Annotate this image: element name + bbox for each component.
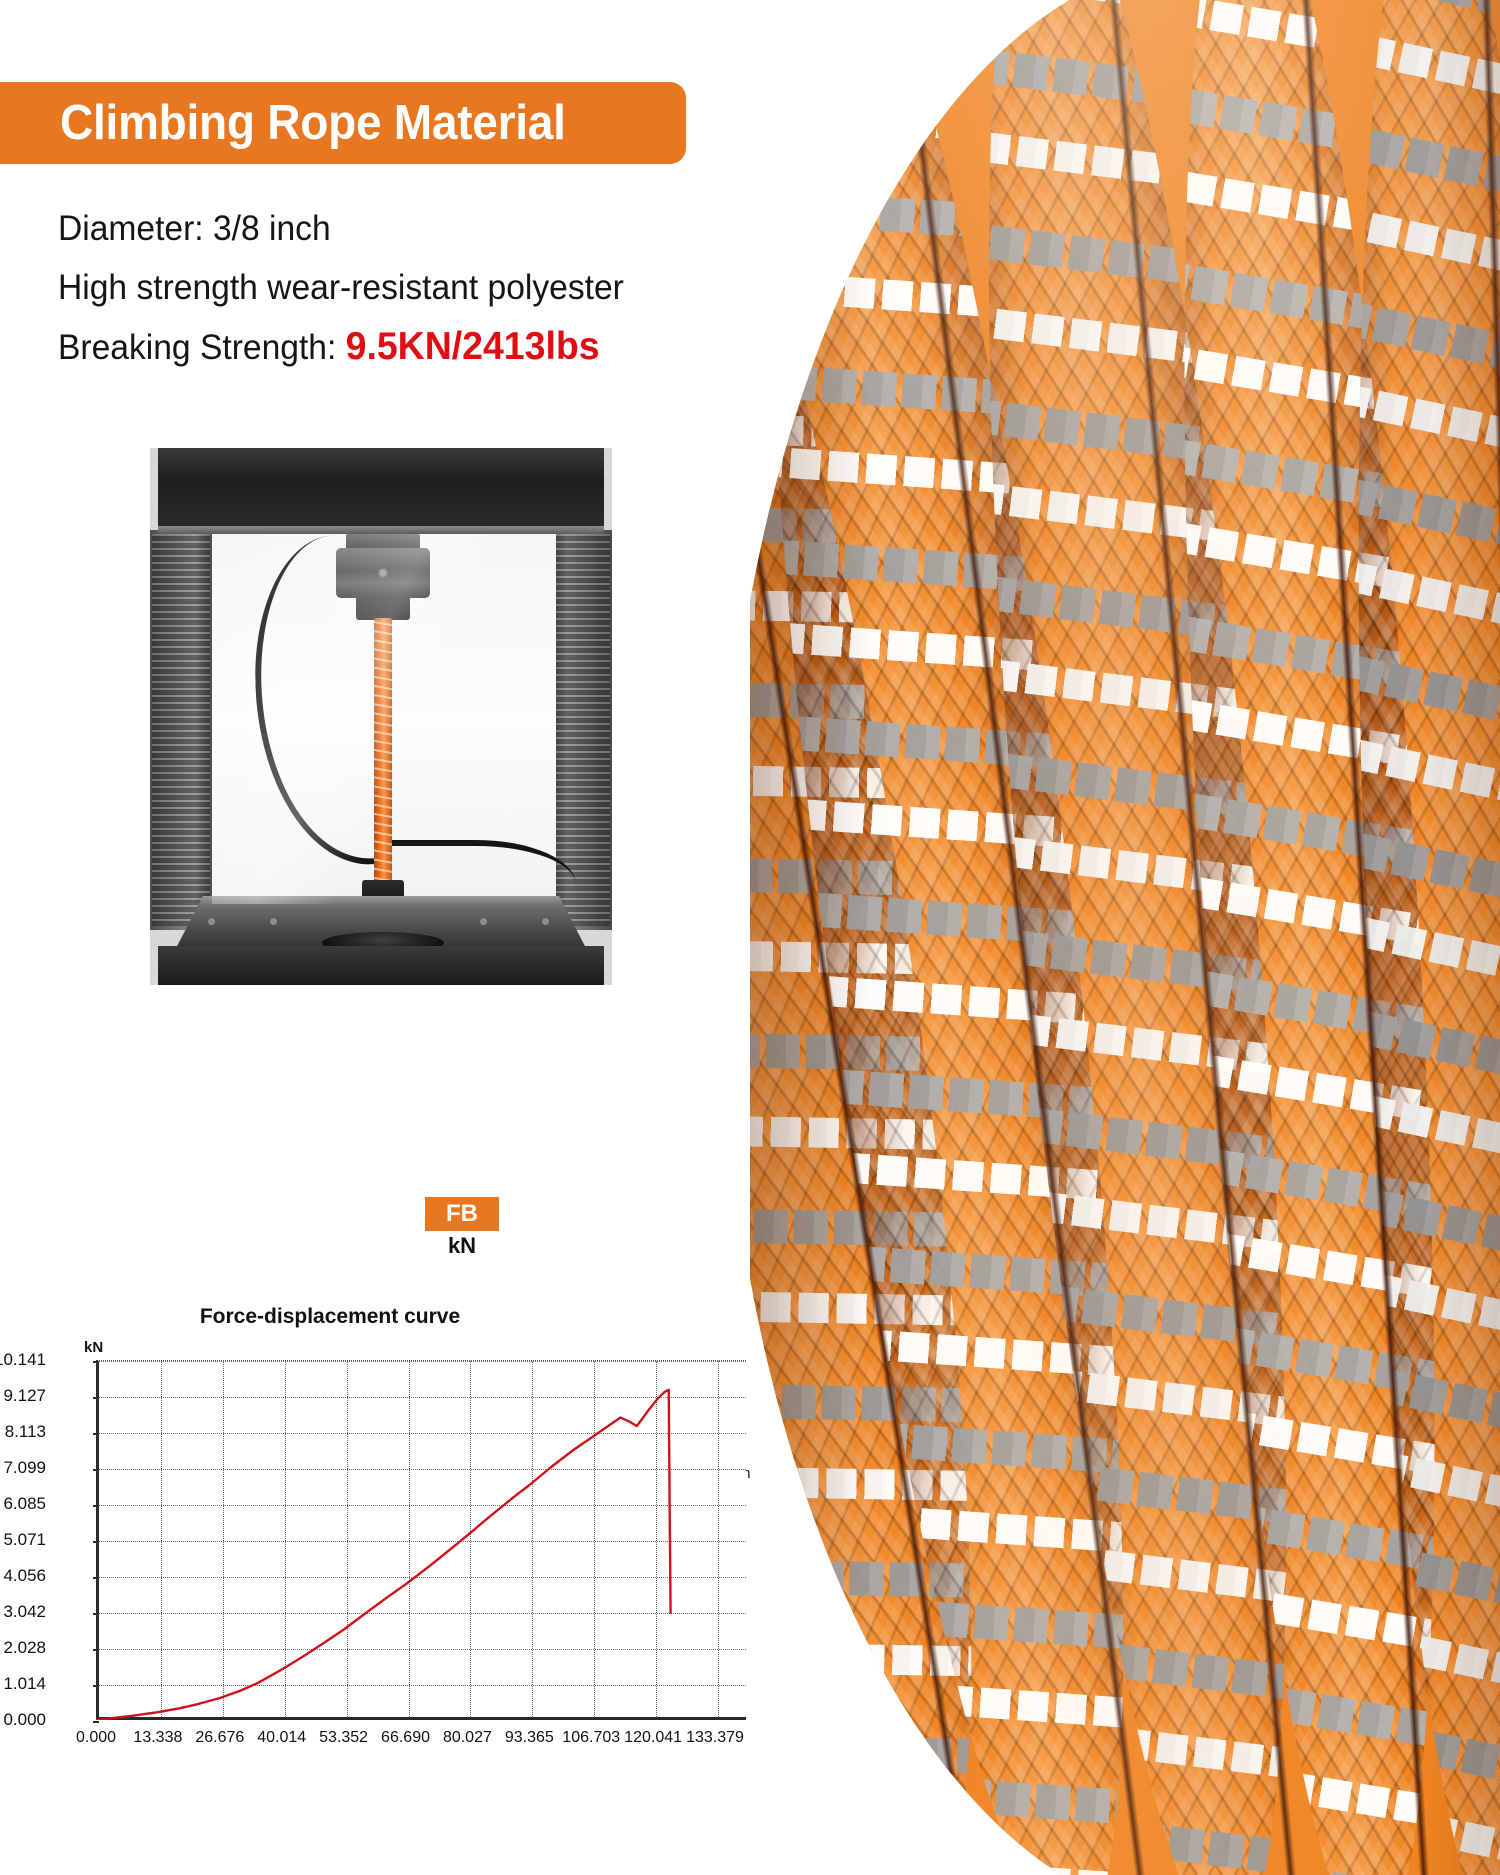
rope-specimen xyxy=(374,618,392,888)
chart-x-tick-label: 66.690 xyxy=(381,1729,430,1747)
chart-y-tick-label: 10.141 xyxy=(0,1350,46,1370)
machine-crosshead xyxy=(158,448,604,530)
chart-y-axis-unit: kN xyxy=(84,1339,103,1356)
crosshead-edge xyxy=(158,526,604,534)
page-title: Climbing Rope Material xyxy=(60,95,566,151)
chart-y-tick-mark xyxy=(93,1721,99,1723)
force-break-badge: FB xyxy=(425,1197,499,1231)
chart-y-tick-label: 5.071 xyxy=(3,1530,46,1550)
chart-x-tick-label: 93.365 xyxy=(505,1729,554,1747)
rope-photo-mask xyxy=(750,0,1500,1875)
bed-bolt-icon xyxy=(208,918,215,925)
chart-x-tick-label: 53.352 xyxy=(319,1729,368,1747)
rope-closeup-photo xyxy=(750,0,1500,1875)
force-displacement-chart: Force-displacement curve kN mm 0.00013.3… xyxy=(0,1305,800,1835)
chart-x-tick-label: 80.027 xyxy=(443,1729,492,1747)
chart-y-tick-label: 0.000 xyxy=(3,1710,46,1730)
chart-y-tick-label: 7.099 xyxy=(3,1458,46,1478)
machine-bed-front-face xyxy=(158,946,604,985)
bed-bolt-icon xyxy=(542,918,549,925)
chart-x-tick-label: 133.379 xyxy=(686,1729,744,1747)
spec-diameter: Diameter: 3/8 inch xyxy=(58,209,331,249)
chart-y-tick-label: 9.127 xyxy=(3,1386,46,1406)
bed-bolt-icon xyxy=(480,918,487,925)
chamber-left-wall-texture xyxy=(152,534,210,926)
chart-x-tick-label: 106.703 xyxy=(562,1729,620,1747)
chart-y-tick-label: 4.056 xyxy=(3,1566,46,1586)
chart-y-tick-label: 1.014 xyxy=(3,1674,46,1694)
chart-y-tick-label: 6.085 xyxy=(3,1494,46,1514)
bed-bolt-icon xyxy=(270,918,277,925)
chart-title: Force-displacement curve xyxy=(0,1305,660,1329)
infographic-page: Climbing Rope Material Diameter: 3/8 inc… xyxy=(0,0,1500,1875)
chart-x-tick-label: 40.014 xyxy=(257,1729,306,1747)
tensile-test-machine-photo xyxy=(150,448,612,985)
chart-y-tick-label: 2.028 xyxy=(3,1638,46,1658)
breaking-strength-value: 9.5KN/2413lbs xyxy=(346,325,600,368)
force-break-label: FB xyxy=(446,1200,478,1228)
chart-y-tick-label: 3.042 xyxy=(3,1602,46,1622)
chart-curve-svg xyxy=(96,1360,746,1720)
left-content-column: Climbing Rope Material Diameter: 3/8 inc… xyxy=(0,0,800,1875)
breaking-strength-label: Breaking Strength: xyxy=(58,328,346,367)
force-break-unit: kN xyxy=(425,1233,499,1259)
header-banner: Climbing Rope Material xyxy=(0,82,686,164)
chart-y-tick-label: 8.113 xyxy=(5,1422,46,1442)
upper-grip-body xyxy=(336,548,430,598)
chart-x-tick-label: 26.676 xyxy=(195,1729,244,1747)
chart-x-tick-label: 13.338 xyxy=(133,1729,182,1747)
spec-material: High strength wear-resistant polyester xyxy=(58,268,624,308)
spec-breaking-strength: Breaking Strength: 9.5KN/2413lbs xyxy=(58,325,600,369)
grip-screw-icon xyxy=(378,568,388,578)
upper-grip-jaw xyxy=(356,596,410,620)
chart-x-tick-label: 0.000 xyxy=(76,1729,116,1747)
chart-x-tick-label: 120.041 xyxy=(624,1729,682,1747)
force-displacement-curve xyxy=(96,1390,671,1720)
